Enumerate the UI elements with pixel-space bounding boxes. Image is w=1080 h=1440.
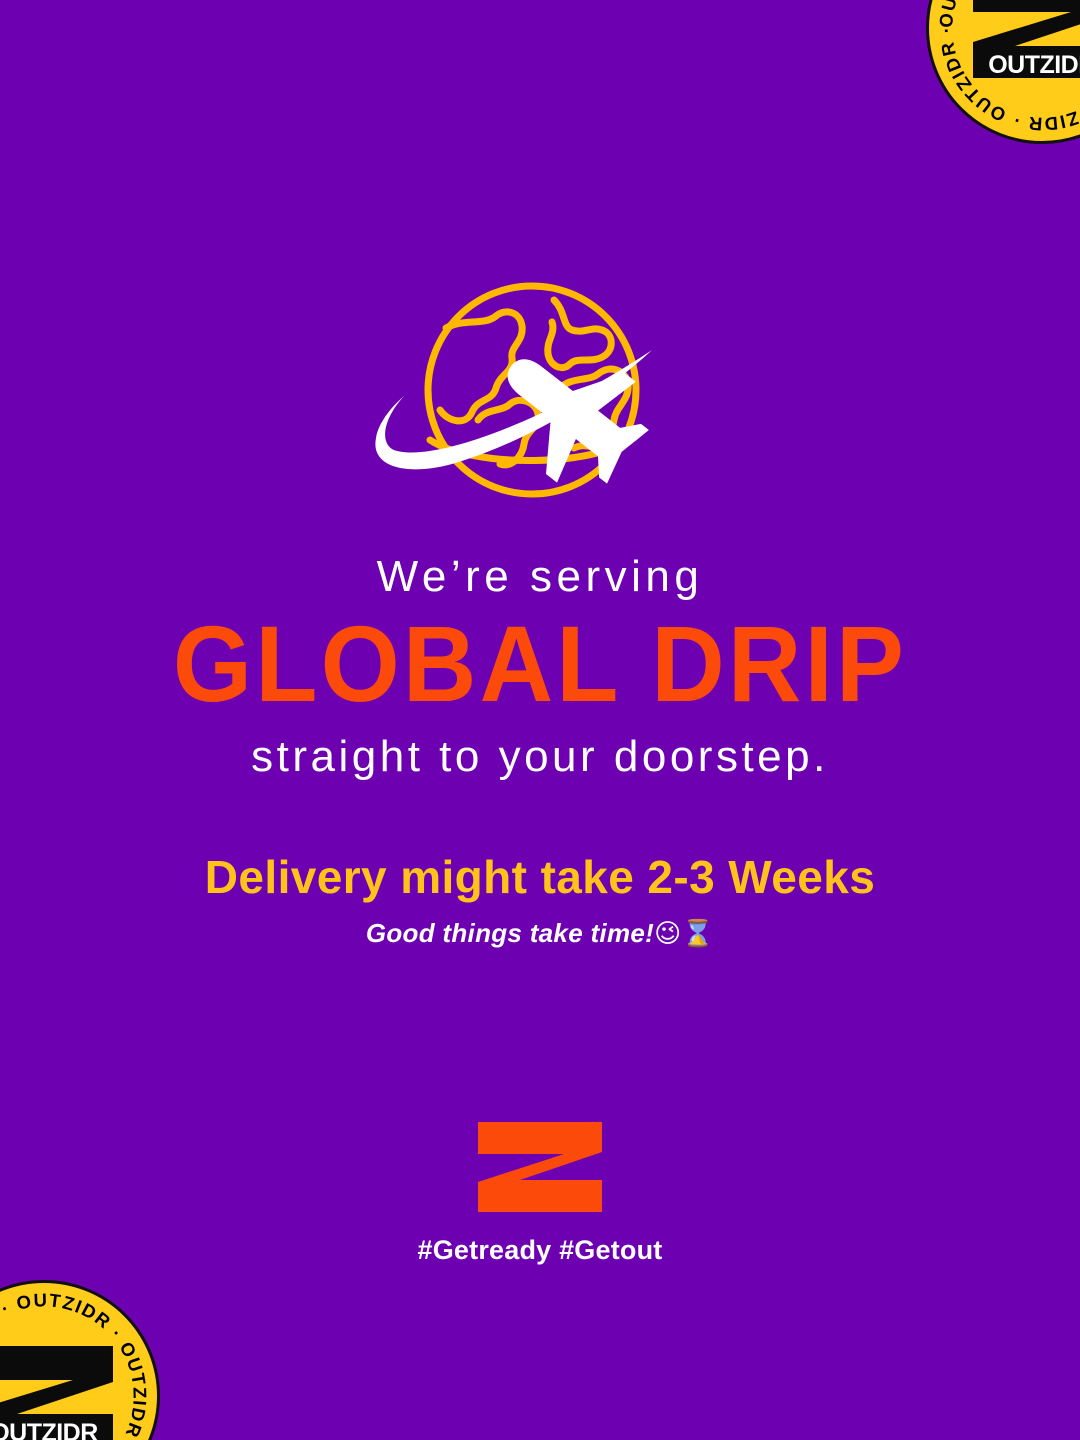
brand-badge-top-right: OUTZIDR · OUTZIDR · OUTZIDR · OUTZIDR · … bbox=[926, 0, 1080, 144]
hero-globe-graphic bbox=[360, 272, 720, 512]
z-logo-icon-top-right bbox=[967, 0, 1080, 80]
reassurance-line: Good things take time!😉⌛ bbox=[0, 919, 1080, 949]
delivery-note-text: Delivery might take 2-3 Weeks bbox=[0, 852, 1080, 903]
eyebrow-text: We’re serving bbox=[0, 552, 1080, 601]
poster-canvas: OUTZIDR · OUTZIDR · OUTZIDR · OUTZIDR · … bbox=[0, 0, 1080, 1440]
brand-badge-bottom-left: OUTZIDR · OUTZIDR · OUTZIDR · OUTZIDR · … bbox=[0, 1280, 160, 1440]
badge-core-top-right: OUTZIDR bbox=[967, 0, 1080, 80]
copy-block: We’re serving GLOBAL DRIP straight to yo… bbox=[0, 552, 1080, 949]
headline-text: GLOBAL DRIP bbox=[0, 612, 1080, 720]
hashtags-text: #Getready #Getout bbox=[0, 1235, 1080, 1266]
footer-block: #Getready #Getout bbox=[0, 1122, 1080, 1266]
z-logo-icon-footer bbox=[478, 1122, 602, 1214]
badge-core-bottom-left: OUTZIDR bbox=[0, 1344, 119, 1440]
wink-hourglass-emoji: 😉⌛ bbox=[654, 919, 714, 949]
z-logo-icon-bottom-left bbox=[0, 1344, 119, 1440]
reassurance-text: Good things take time! bbox=[366, 918, 654, 948]
subheadline-text: straight to your doorstep. bbox=[0, 733, 1080, 781]
